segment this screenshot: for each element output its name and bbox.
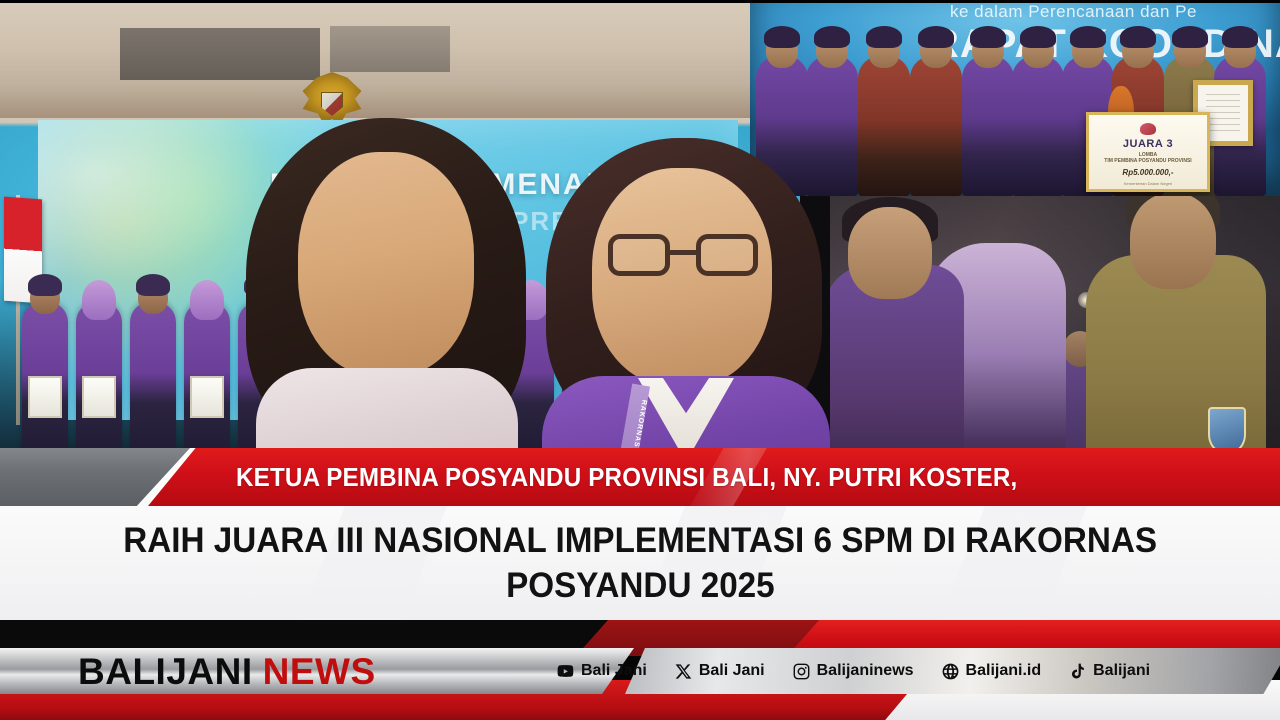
tiktok-icon (1068, 662, 1087, 681)
website-icon (941, 662, 960, 681)
award-emblem-icon (1140, 123, 1156, 135)
youtube-icon (556, 662, 575, 681)
social-handles: Bali Jani Bali Jani Balijaninews Balijan… (556, 650, 1256, 692)
portrait-putri-koster (236, 118, 536, 505)
headline-line-2: RAIH JUARA III NASIONAL IMPLEMENTASI 6 S… (0, 510, 1280, 618)
headline-block: KETUA PEMBINA POSYANDU PROVINSI BALI, NY… (0, 448, 1280, 620)
social-handle-label: Bali Jani (581, 662, 647, 680)
face (592, 168, 772, 386)
group-figure (1012, 56, 1064, 196)
logo-text-secondary: NEWS (263, 651, 376, 693)
award-prize-card: JUARA 3 LOMBA TIM PEMBINA POSYANDU PROVI… (1086, 112, 1210, 192)
uniform-badge-icon (1208, 407, 1246, 453)
hall-ceiling (0, 0, 800, 118)
group-figure (910, 56, 962, 196)
head (1130, 196, 1216, 289)
social-tiktok[interactable]: Balijani (1068, 662, 1150, 681)
honoree-figure (22, 302, 68, 470)
honoree-figure (184, 302, 230, 470)
award-prize-amount: Rp5.000.000,- (1089, 168, 1207, 177)
brand-bar: BALIJANI NEWS Bali Jani Bali Jani (0, 620, 1280, 720)
social-website[interactable]: Balijani.id (941, 662, 1042, 681)
social-youtube[interactable]: Bali Jani (556, 662, 647, 681)
logo-text-primary: BALIJANI (78, 651, 253, 693)
backdrop-text-line1: ke dalam Perencanaan dan Pe (950, 2, 1280, 22)
social-handle-label: Bali Jani (699, 662, 765, 680)
headline-line-2b: POSYANDU 2025 (506, 564, 775, 609)
honoree-figure (76, 302, 122, 470)
social-handle-label: Balijani.id (966, 662, 1042, 680)
social-instagram[interactable]: Balijaninews (792, 662, 914, 681)
social-x-twitter[interactable]: Bali Jani (674, 662, 765, 681)
top-edge-line (0, 0, 1280, 3)
social-handle-label: Balijaninews (817, 662, 914, 680)
award-rank: JUARA 3 (1089, 138, 1207, 150)
headline-line-2a: RAIH JUARA III NASIONAL IMPLEMENTASI 6 S… (123, 519, 1157, 564)
honoree-figure (130, 302, 176, 470)
group-figure (962, 56, 1014, 196)
award-note: Kementerian Dalam Negeri (1089, 181, 1207, 186)
social-handle-label: Balijani (1093, 662, 1150, 680)
headline-line-1: KETUA PEMBINA POSYANDU PROVINSI BALI, NY… (236, 448, 1185, 506)
award-category: TIM PEMBINA POSYANDU PROVINSI (1089, 158, 1207, 164)
head (848, 207, 932, 299)
group-figure (858, 56, 910, 196)
photo-collage: NOMINASI PEMENANG POSYANDU BERPRESTASI (0, 0, 1280, 505)
news-thumbnail: NOMINASI PEMENANG POSYANDU BERPRESTASI (0, 0, 1280, 720)
instagram-icon (792, 662, 811, 681)
channel-logo[interactable]: BALIJANI NEWS (78, 654, 376, 690)
x-twitter-icon (674, 662, 693, 681)
eyeglasses-icon (608, 234, 758, 276)
face (298, 152, 474, 376)
